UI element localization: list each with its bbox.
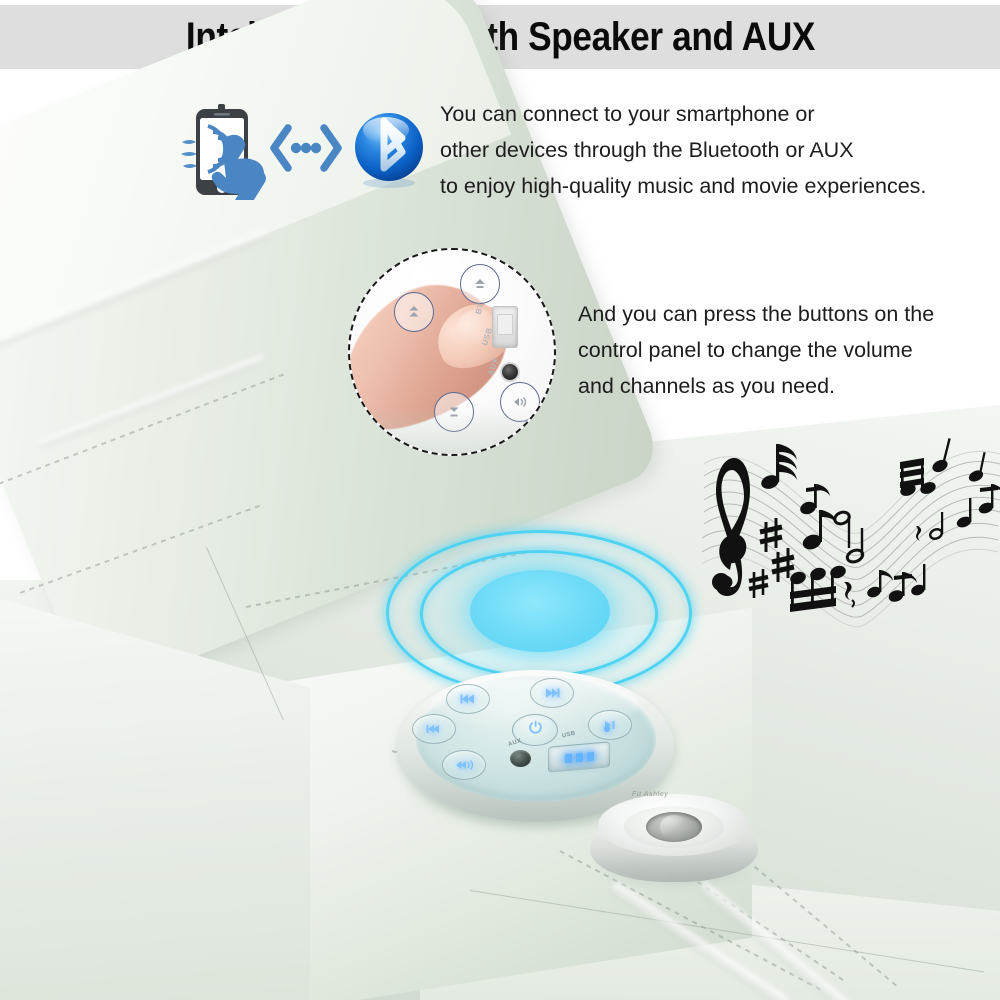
channel-up-button[interactable] <box>588 710 632 740</box>
skip-forward-icon <box>544 687 560 699</box>
connection-icon <box>268 122 344 174</box>
aux-jack[interactable] <box>510 750 531 767</box>
inset-shadow <box>350 406 554 454</box>
bluetooth-icon <box>348 108 430 190</box>
volume-up-icon <box>455 759 473 771</box>
inset-channel-up-button <box>394 292 434 332</box>
prev-track-button[interactable] <box>446 684 490 714</box>
music-staff-illustration <box>690 430 1000 632</box>
description-line: and channels as you need. <box>578 368 934 404</box>
inset-volume-up-button <box>460 264 500 304</box>
volume-down-button[interactable] <box>412 714 456 744</box>
description-line: other devices through the Bluetooth or A… <box>440 132 926 168</box>
volume-down-icon <box>426 723 442 735</box>
inset-usb-port <box>492 306 518 348</box>
bluetooth-indicator <box>604 726 610 732</box>
cup-holder-well <box>646 812 702 842</box>
connectivity-icon-row <box>180 100 430 200</box>
skip-back-icon <box>460 693 476 705</box>
product-feature-graphic: Intelligent Bluetooth Speaker and AUX <box>0 0 1000 1000</box>
usb-port[interactable] <box>548 741 610 772</box>
volume-up-button[interactable] <box>442 750 486 780</box>
sound-wave-core <box>470 570 610 652</box>
inset-aux-jack <box>500 362 520 382</box>
cup-holder: Fit Ashley <box>588 786 760 890</box>
description-line: control panel to change the volume <box>578 332 934 368</box>
control-panel-photo-inset: BT USB AUX <box>348 248 556 456</box>
description-line: to enjoy high-quality music and movie ex… <box>440 168 926 204</box>
bluetooth-description: You can connect to your smartphone or ot… <box>440 96 926 204</box>
power-icon <box>528 720 543 740</box>
next-track-button[interactable] <box>530 678 574 708</box>
usb-led <box>587 751 594 761</box>
usb-led <box>576 752 583 762</box>
usb-led <box>565 753 572 763</box>
description-line: And you can press the buttons on the <box>578 296 934 332</box>
cup-holder-brand: Fit Ashley <box>632 791 669 798</box>
control-panel-description: And you can press the buttons on the con… <box>578 296 934 404</box>
description-line: You can connect to your smartphone or <box>440 96 926 132</box>
